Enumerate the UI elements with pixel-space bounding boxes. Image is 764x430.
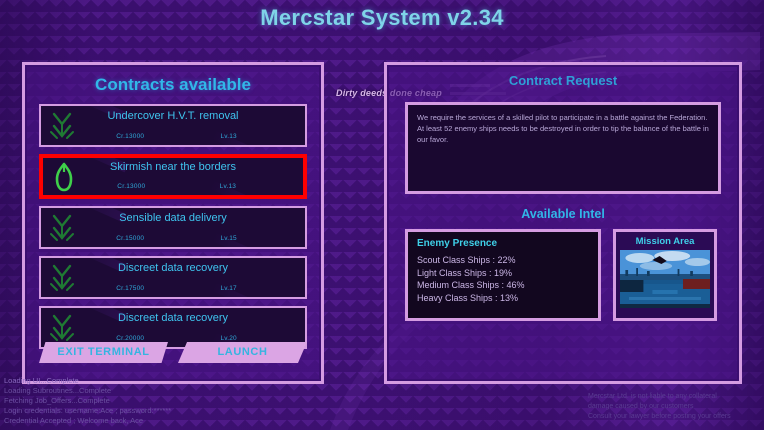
intel-row: Enemy Presence Scout Class Ships : 22%Li…	[405, 229, 721, 321]
contract-level: Lv.17	[179, 285, 277, 292]
boot-log-line: Loading Subroutines...Complete	[4, 386, 171, 396]
boot-log-line: Fetching Job_Offers...Complete	[4, 396, 171, 406]
enemy-presence-line: Heavy Class Ships : 13%	[417, 292, 589, 305]
boot-log-line: Credential Accepted ; Welcome back, Ace	[4, 416, 171, 426]
contract-credits: Cr.17500	[81, 285, 179, 292]
enemy-presence-line: Medium Class Ships : 46%	[417, 279, 589, 292]
enemy-presence-box: Enemy Presence Scout Class Ships : 22%Li…	[405, 229, 601, 321]
disclaimer-line: Mercstar Ltd. is not liable to any colla…	[588, 392, 758, 402]
contract-credits: Cr.13000	[83, 183, 180, 190]
launch-button[interactable]: LAUNCH	[178, 342, 307, 363]
contract-list: Undercover H.V.T. removalCr.13000Lv.13 S…	[39, 104, 307, 349]
contract-meta: Cr.20000Lv.20	[81, 335, 295, 342]
contract-level: Lv.13	[179, 133, 277, 140]
boot-log-line: Login credentials: username:Ace ; passwo…	[4, 406, 171, 416]
contract-meta: Cr.17500Lv.17	[81, 285, 295, 292]
contract-row[interactable]: Sensible data deliveryCr.15000Lv.15	[39, 206, 307, 249]
mission-area-box: Mission Area	[613, 229, 717, 321]
enemy-presence-line: Scout Class Ships : 22%	[417, 254, 589, 267]
contract-row[interactable]: Discreet data recoveryCr.17500Lv.17	[39, 256, 307, 299]
contract-credits: Cr.13000	[81, 133, 179, 140]
contract-name: Discreet data recovery	[41, 262, 305, 274]
exit-terminal-button[interactable]: EXIT TERMINAL	[39, 342, 168, 363]
contract-name: Undercover H.V.T. removal	[41, 110, 305, 122]
contracts-title: Contracts available	[25, 75, 321, 95]
disclaimer-text: Mercstar Ltd. is not liable to any colla…	[588, 392, 758, 422]
mission-area-title: Mission Area	[620, 236, 710, 247]
boot-log-line: Loading UI...Complete	[4, 376, 171, 386]
action-button-row: EXIT TERMINAL LAUNCH	[39, 342, 307, 363]
contract-details-panel: Contract Request We require the services…	[384, 62, 742, 384]
enemy-presence-line: Light Class Ships : 19%	[417, 267, 589, 280]
contract-meta: Cr.15000Lv.15	[81, 235, 295, 242]
contract-name: Skirmish near the borders	[43, 161, 303, 173]
contract-row[interactable]: Skirmish near the bordersCr.13000Lv.13	[39, 154, 307, 199]
disclaimer-line: damage caused by our customers	[588, 402, 758, 412]
contract-level: Lv.15	[179, 235, 277, 242]
contract-level: Lv.20	[179, 335, 277, 342]
disclaimer-line: Consult your lawyer before posting your …	[588, 412, 758, 422]
enemy-presence-title: Enemy Presence	[417, 238, 589, 249]
contracts-panel: Contracts available Undercover H.V.T. re…	[22, 62, 324, 384]
page-title: Mercstar System v2.34	[0, 5, 764, 31]
contract-meta: Cr.13000Lv.13	[81, 133, 295, 140]
available-intel-title: Available Intel	[387, 207, 739, 221]
enemy-presence-list: Scout Class Ships : 22%Light Class Ships…	[417, 254, 589, 304]
contract-request-title: Contract Request	[387, 73, 739, 88]
contract-credits: Cr.20000	[81, 335, 179, 342]
contract-request-box: We require the services of a skilled pil…	[405, 102, 721, 194]
contract-name: Discreet data recovery	[41, 312, 305, 324]
contract-meta: Cr.13000Lv.13	[83, 183, 293, 190]
contract-request-text: We require the services of a skilled pil…	[408, 105, 718, 152]
contract-credits: Cr.15000	[81, 235, 179, 242]
boot-log: Loading UI...CompleteLoading Subroutines…	[4, 376, 171, 426]
contract-level: Lv.13	[180, 183, 277, 190]
contract-row[interactable]: Undercover H.V.T. removalCr.13000Lv.13	[39, 104, 307, 147]
contract-name: Sensible data delivery	[41, 212, 305, 224]
mission-area-thumbnail	[620, 250, 710, 308]
